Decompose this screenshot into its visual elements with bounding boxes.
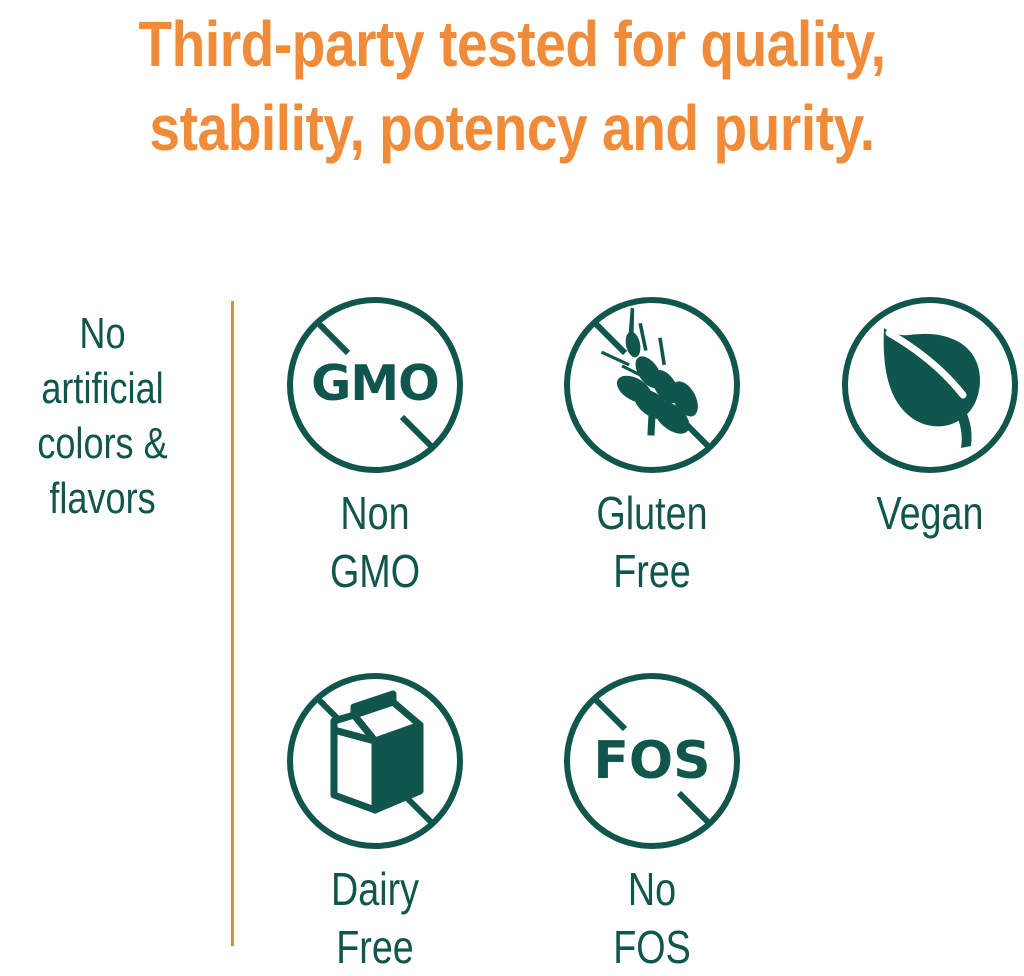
badge-label: Dairy Free <box>281 860 470 976</box>
no-wheat-icon <box>559 292 745 478</box>
badge-non-gmo: GMO Non GMO <box>260 292 490 600</box>
badge-no-fos: FOS No FOS <box>537 668 767 976</box>
no-gmo-icon: GMO <box>282 292 468 478</box>
no-milk-carton-icon <box>282 668 468 854</box>
no-fos-icon: FOS <box>559 668 745 854</box>
badge-label: Vegan <box>836 484 1024 542</box>
svg-text:FOS: FOS <box>593 731 710 791</box>
badge-label: No FOS <box>558 860 747 976</box>
no-artificial-colors-note: No artificial colors & flavors <box>18 306 186 526</box>
badge-gluten-free: Gluten Free <box>537 292 767 600</box>
badge-label: Non GMO <box>281 484 470 600</box>
badge-label: Gluten Free <box>558 484 747 600</box>
badge-dairy-free: Dairy Free <box>260 668 490 976</box>
leaf-icon <box>837 292 1023 478</box>
page-headline: Third-party tested for quality, stabilit… <box>72 2 953 170</box>
svg-text:GMO: GMO <box>311 355 439 412</box>
badge-vegan: Vegan <box>815 292 1024 542</box>
vertical-divider <box>231 301 234 946</box>
